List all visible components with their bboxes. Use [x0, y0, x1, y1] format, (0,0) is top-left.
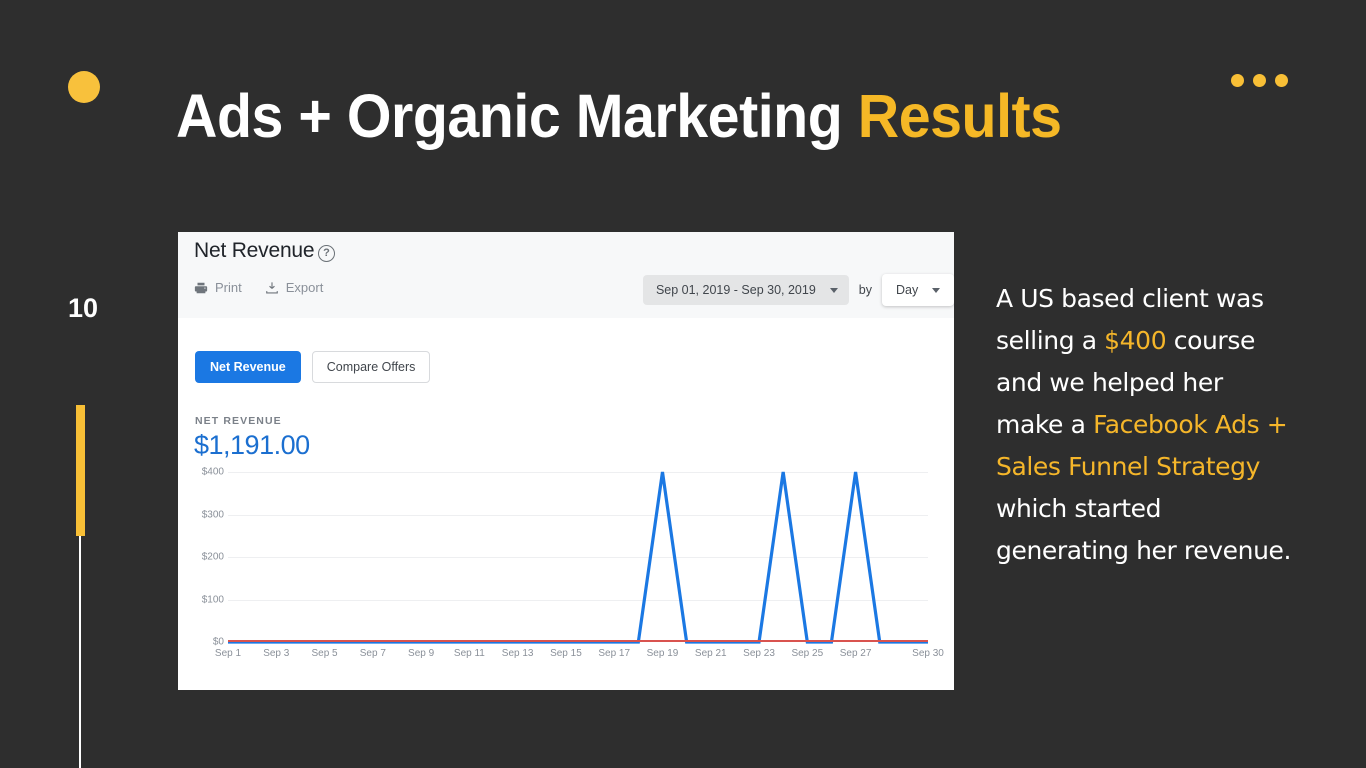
page-title: Ads + Organic Marketing Results — [176, 84, 1062, 148]
tab-net-revenue[interactable]: Net Revenue — [195, 351, 301, 383]
granularity-select[interactable]: Day — [882, 274, 954, 306]
x-tick-label: Sep 3 — [263, 648, 289, 659]
ellipsis-icon — [1231, 74, 1288, 87]
x-tick-label: Sep 25 — [791, 648, 823, 659]
chevron-down-icon — [830, 288, 838, 293]
export-button[interactable]: Export — [265, 280, 324, 295]
chart-baseline — [228, 640, 928, 643]
granularity-value: Day — [896, 283, 918, 297]
chart-series-line — [228, 472, 928, 642]
chart-plot-area — [228, 472, 928, 642]
card-header: Net Revenue ? Print Export — [178, 232, 954, 318]
export-label: Export — [286, 280, 324, 295]
x-tick-label: Sep 27 — [840, 648, 872, 659]
y-tick-label: $0 — [213, 637, 224, 648]
print-label: Print — [215, 280, 242, 295]
date-range-picker[interactable]: Sep 01, 2019 - Sep 30, 2019 — [643, 275, 849, 305]
x-tick-label: Sep 30 — [912, 648, 944, 659]
x-tick-label: Sep 1 — [215, 648, 241, 659]
x-tick-label: Sep 21 — [695, 648, 727, 659]
card-toolbar: Print Export — [194, 280, 323, 295]
kpi-label: NET REVENUE — [195, 415, 282, 427]
range-controls: Sep 01, 2019 - Sep 30, 2019 by Day — [643, 274, 954, 306]
blurb-part-3: which started generating her revenue. — [996, 494, 1291, 565]
x-tick-label: Sep 19 — [647, 648, 679, 659]
page-title-main: Ads + Organic Marketing — [176, 82, 858, 150]
x-tick-label: Sep 5 — [311, 648, 337, 659]
slide-number: 10 — [68, 293, 98, 324]
card-tabs: Net Revenue Compare Offers — [195, 351, 430, 383]
blurb-highlight-price: $400 — [1104, 326, 1166, 355]
chevron-down-icon — [932, 288, 940, 293]
slide: Ads + Organic Marketing Results 10 Net R… — [0, 0, 1366, 768]
ellipsis-dot — [1231, 74, 1244, 87]
x-tick-label: Sep 13 — [502, 648, 534, 659]
ellipsis-dot — [1275, 74, 1288, 87]
y-axis-labels: $0$100$200$300$400 — [178, 472, 224, 642]
download-icon — [265, 281, 279, 295]
x-tick-label: Sep 15 — [550, 648, 582, 659]
net-revenue-card: Net Revenue ? Print Export — [178, 232, 954, 690]
x-tick-label: Sep 17 — [598, 648, 630, 659]
y-tick-label: $400 — [202, 467, 224, 478]
progress-rail-fill — [76, 405, 85, 536]
x-tick-label: Sep 9 — [408, 648, 434, 659]
by-label: by — [859, 283, 872, 297]
print-button[interactable]: Print — [194, 280, 242, 295]
x-tick-label: Sep 11 — [454, 648, 485, 659]
x-tick-label: Sep 23 — [743, 648, 775, 659]
x-tick-label: Sep 7 — [360, 648, 386, 659]
help-icon[interactable]: ? — [318, 245, 335, 262]
y-tick-label: $300 — [202, 509, 224, 520]
y-tick-label: $200 — [202, 552, 224, 563]
ellipsis-dot — [1253, 74, 1266, 87]
card-title: Net Revenue — [194, 239, 314, 263]
decorative-dot — [68, 71, 100, 103]
progress-rail-track — [79, 536, 81, 768]
kpi-value: $1,191.00 — [194, 430, 310, 461]
x-axis-labels: Sep 1Sep 3Sep 5Sep 7Sep 9Sep 11Sep 13Sep… — [228, 648, 928, 668]
y-tick-label: $100 — [202, 594, 224, 605]
printer-icon — [194, 281, 208, 295]
page-title-accent: Results — [858, 82, 1062, 150]
date-range-value: Sep 01, 2019 - Sep 30, 2019 — [656, 283, 816, 297]
description-text: A US based client was selling a $400 cou… — [996, 278, 1296, 572]
revenue-chart: $0$100$200$300$400 Sep 1Sep 3Sep 5Sep 7S… — [178, 472, 954, 690]
tab-compare-offers[interactable]: Compare Offers — [312, 351, 431, 383]
